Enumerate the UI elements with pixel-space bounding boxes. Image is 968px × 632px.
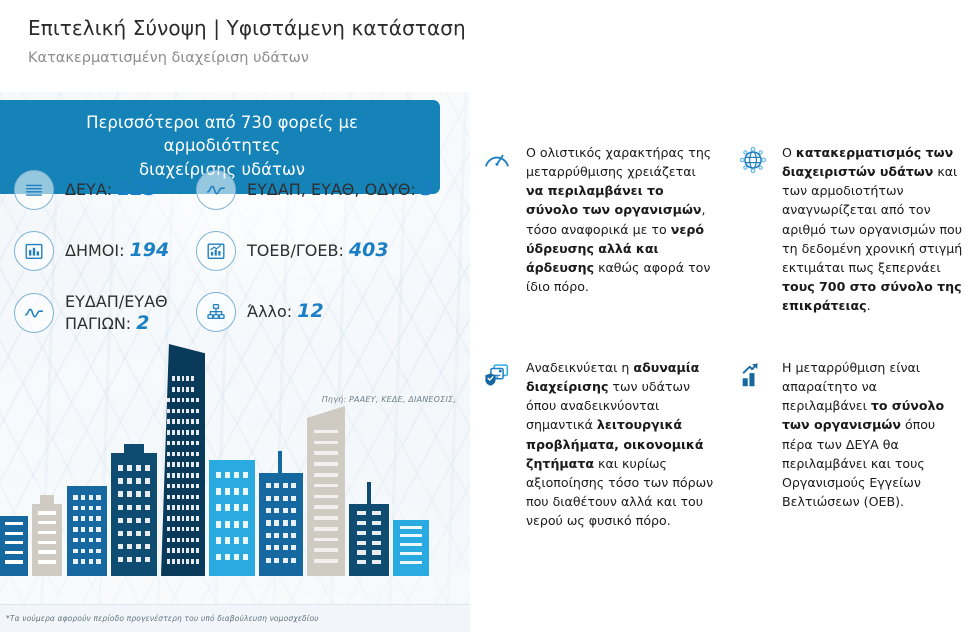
building-window [177,495,180,500]
building-window [191,516,194,521]
insight-block-fragmentation: Ο κατακερματισμός των διαχειριστών υδάτω… [738,143,964,315]
building-window [182,559,185,564]
building-window [81,495,85,500]
building-window [283,496,288,501]
globe-network-icon [738,143,772,179]
insight-text: Αναδεικνύεται η αδυναμία διαχείρισης των… [526,358,714,530]
building-window [283,558,288,563]
building-window [400,526,422,529]
building-window [372,560,381,564]
stat-value: 12 [297,300,323,322]
building-window [225,504,230,511]
building-window [274,483,279,488]
building-window [172,409,175,414]
building-window [89,559,93,564]
building-rooftop [40,495,53,504]
building-window [191,398,194,403]
building-window [127,557,132,562]
building-window [234,554,239,561]
building-window [191,376,194,381]
building-window [196,484,199,489]
building-window [182,409,185,414]
building-window [177,538,180,543]
building-window [182,430,185,435]
building-window [172,387,175,392]
hierarchy-icon [196,292,236,332]
building-window [283,533,288,538]
page-title: Επιτελική Σύνοψη | Υφιστάμενη κατάσταση [28,16,668,41]
building-window [314,462,338,466]
building-window [172,559,175,564]
building-window [186,516,189,521]
building-window [127,505,132,510]
building-window [191,419,194,424]
building-window [266,520,271,525]
insight-block-reform-scope: Η μεταρρύθμιση είναι απαραίτητο να περιλ… [738,358,964,511]
building-window [145,518,150,523]
building-window [5,541,22,544]
building-window [186,559,189,564]
building-window [73,516,77,521]
building-window [266,558,271,563]
chart-arrow-icon [196,231,236,271]
building-window [291,533,296,538]
building-window [191,538,194,543]
building-window [182,484,185,489]
building-window [186,387,189,392]
building-window [186,441,189,446]
building-window [266,496,271,501]
building-window [81,516,85,521]
building-window [357,560,366,564]
building-window [81,538,85,543]
building-window [186,505,189,510]
building-window [314,430,338,434]
stat-value: 194 [130,239,170,261]
building-window [196,495,199,500]
stat-item-dimoi: ΔΗΜΟΙ: 194 [0,231,188,271]
building-window [314,473,338,477]
building-window [196,516,199,521]
building-window [136,544,141,549]
building-window [274,533,279,538]
building-window [191,527,194,532]
building-window [118,518,123,523]
building-window [191,441,194,446]
growth-chart-icon [738,358,772,394]
building-window [172,419,175,424]
building-window [136,518,141,523]
building-window [182,419,185,424]
building-window [234,504,239,511]
building-window [127,465,132,470]
building-window [167,495,170,500]
building-window [191,559,194,564]
building-window [186,548,189,553]
building-window [196,505,199,510]
building-window [89,516,93,521]
shield-documents-icon [482,358,516,394]
building-window [177,409,180,414]
building-window [186,473,189,478]
building-window [216,488,221,495]
building-window [38,541,57,544]
skyline-building [349,504,389,576]
building-window [177,473,180,478]
building-window [145,491,150,496]
building-window [283,520,288,525]
building-window [89,538,93,543]
building-window [191,495,194,500]
building-window [191,387,194,392]
skyline-building [307,406,345,576]
building-window [81,506,85,511]
stat-item-toev-goev: ΤΟΕΒ/ΓΟΕΒ: 403 [188,231,389,271]
building-window [167,419,170,424]
building-window [177,430,180,435]
building-window [38,511,57,514]
building-window [73,527,77,532]
building-window [314,484,338,488]
building-window [186,376,189,381]
building-window [172,516,175,521]
skyline-building [32,504,62,576]
building-window [243,537,248,544]
building-window [196,430,199,435]
building-window [191,409,194,414]
building-window [81,549,85,554]
building-window [73,506,77,511]
building-window [177,505,180,510]
stat-item-eydap-eyath-pagion: ΕΥΔΑΠ/ΕΥΑΘ ΠΑΓΙΩΝ: 2 [0,292,188,335]
building-window [136,465,141,470]
building-window [167,548,170,553]
building-window [118,478,123,483]
building-window [357,550,366,554]
water-lines-icon [14,170,54,210]
building-window [196,559,199,564]
building-window [136,478,141,483]
building-window [89,527,93,532]
building-window [216,504,221,511]
building-window [145,465,150,470]
building-window [182,398,185,403]
building-window [274,508,279,513]
building-window [182,462,185,467]
stat-value: 3 [421,178,434,200]
building-window [186,409,189,414]
building-window [314,441,338,445]
building-window [196,441,199,446]
building-window [314,548,338,552]
building-window [243,472,248,479]
building-antenna [278,451,282,473]
insight-text: Ο κατακερματισμός των διαχειριστών υδάτω… [782,143,964,315]
building-window [225,472,230,479]
building-window [167,516,170,521]
building-window [167,409,170,414]
building-window [191,430,194,435]
building-window [196,538,199,543]
building-window [196,548,199,553]
building-window [89,549,93,554]
building-window [167,484,170,489]
building-window [186,538,189,543]
building-window [372,541,381,545]
building-window [177,376,180,381]
building-window [145,505,150,510]
building-window [172,527,175,532]
stat-label: ΤΟΕΒ/ΓΟΕΒ: [247,241,349,260]
skyline-building [259,473,303,576]
building-window [172,398,175,403]
building-window [186,398,189,403]
building-window [291,496,296,501]
building-window [172,484,175,489]
building-window [400,534,422,537]
building-window [186,430,189,435]
building-window [145,544,150,549]
building-window [314,516,338,520]
building-window [136,531,141,536]
building-window [266,533,271,538]
building-window [167,538,170,543]
building-window [118,531,123,536]
building-window [314,495,338,499]
building-window [182,376,185,381]
building-window [172,538,175,543]
building-window [182,527,185,532]
building-window [5,560,22,563]
building-window [136,557,141,562]
building-window [73,538,77,543]
building-window [400,552,422,555]
building-window [225,554,230,561]
building-window [118,557,123,562]
building-window [291,520,296,525]
building-window [96,495,100,500]
building-window [372,550,381,554]
building-window [172,548,175,553]
skyline-building [0,516,28,576]
building-window [191,462,194,467]
building-window [5,532,22,535]
building-window [196,527,199,532]
building-window [196,398,199,403]
building-window [96,506,100,511]
building-window [167,462,170,467]
building-rooftop [124,444,144,453]
building-window [196,452,199,457]
building-window [186,419,189,424]
building-window [234,488,239,495]
building-window [182,516,185,521]
building-window [136,505,141,510]
building-window [186,484,189,489]
building-window [216,554,221,561]
skyline-building [161,344,205,576]
building-window [274,496,279,501]
building-window [186,452,189,457]
skyline-building [209,460,255,576]
building-window [283,545,288,550]
building-window [186,495,189,500]
page-subtitle: Κατακερματισμένη διαχείριση υδάτων [28,49,668,68]
building-window [182,387,185,392]
insight-text: Η μεταρρύθμιση είναι απαραίτητο να περιλ… [782,358,964,511]
building-window [216,472,221,479]
building-window [357,541,366,545]
building-window [266,483,271,488]
pulse-wave-icon [196,170,236,210]
building-window [274,520,279,525]
building-window [225,537,230,544]
building-window [234,537,239,544]
building-window [73,495,77,500]
building-window [182,473,185,478]
building-window [167,430,170,435]
building-window [127,478,132,483]
building-window [81,527,85,532]
building-window [96,559,100,564]
building-window [38,521,57,524]
building-window [172,430,175,435]
building-window [372,511,381,515]
building-window [372,531,381,535]
building-window [234,521,239,528]
building-window [96,516,100,521]
building-window [314,559,338,563]
building-window [172,452,175,457]
building-window [314,451,338,455]
building-window [314,538,338,542]
insight-block-management-weakness: Αναδεικνύεται η αδυναμία διαχείρισης των… [482,358,714,530]
building-window [167,559,170,564]
building-window [172,462,175,467]
stat-item-deya: ΔΕΥΑ: 125* [0,170,188,210]
building-window [291,508,296,513]
building-window [182,441,185,446]
building-window [73,549,77,554]
building-window [118,465,123,470]
building-window [243,521,248,528]
building-window [372,521,381,525]
building-window [96,527,100,532]
building-window [196,473,199,478]
building-window [5,551,22,554]
building-window [400,561,422,564]
building-window [216,537,221,544]
building-window [172,441,175,446]
stat-value: 2 [136,312,149,334]
stats-row: ΔΕΥΑ: 125* ΕΥΔΑΠ, ΕΥΑΘ, ΟΔΥΘ: 3 [0,170,440,210]
building-window [314,505,338,509]
building-window [177,548,180,553]
building-window [172,376,175,381]
building-window [118,491,123,496]
building-window [96,549,100,554]
stat-value: 125* [117,178,167,200]
building-window [191,505,194,510]
footnote-text: *Τα νούμερα αφορούν περίοδο προγενέστερη… [0,614,319,623]
building-window [177,452,180,457]
building-window [191,452,194,457]
building-window [136,491,141,496]
building-window [196,409,199,414]
building-window [400,543,422,546]
stat-label: Άλλο: [247,302,297,321]
building-window [177,559,180,564]
building-window [145,478,150,483]
building-window [73,559,77,564]
skyline-building [67,486,107,576]
building-window [243,554,248,561]
building-window [186,527,189,532]
building-window [182,538,185,543]
building-window [5,522,22,525]
building-window [177,419,180,424]
building-window [225,488,230,495]
building-window [177,387,180,392]
building-window [234,472,239,479]
building-window [38,550,57,553]
building-window [291,558,296,563]
building-window [243,488,248,495]
building-window [291,483,296,488]
building-window [266,508,271,513]
building-window [172,505,175,510]
building-window [145,557,150,562]
building-window [177,462,180,467]
infographic-page: Επιτελική Σύνοψη | Υφιστάμενη κατάσταση … [0,0,968,632]
building-window [172,495,175,500]
banner-line-1: Περισσότεροι από 730 φορείς με αρμοδιότη… [86,113,358,155]
footnote-bar: *Τα νούμερα αφορούν περίοδο προγενέστερη… [0,604,470,632]
stats-row: ΕΥΔΑΠ/ΕΥΑΘ ΠΑΓΙΩΝ: 2 [0,292,440,335]
insight-text: Ο ολιστικός χαρακτήρας της μεταρρύθμισης… [526,143,714,296]
building-window [291,545,296,550]
insight-block-holistic-reform: Ο ολιστικός χαρακτήρας της μεταρρύθμισης… [482,143,714,296]
building-window [177,398,180,403]
building-window [167,473,170,478]
building-window [167,505,170,510]
building-window [118,544,123,549]
stat-label: ΔΕΥΑ: [65,180,117,199]
building-window [274,545,279,550]
building-window [216,521,221,528]
building-window [81,559,85,564]
page-header: Επιτελική Σύνοψη | Υφιστάμενη κατάσταση … [28,16,668,68]
building-window [182,505,185,510]
building-window [167,527,170,532]
building-window [177,527,180,532]
left-stats-panel: Περισσότεροι από 730 φορείς με αρμοδιότη… [0,92,470,632]
building-window [38,531,57,534]
building-window [357,521,366,525]
bar-chart-icon [14,231,54,271]
building-window [177,484,180,489]
building-window [167,398,170,403]
building-window [177,441,180,446]
stats-row: ΔΗΜΟΙ: 194 ΤΟ [0,231,440,271]
building-window [196,419,199,424]
building-window [182,452,185,457]
building-window [225,521,230,528]
city-skyline-illustration [0,344,470,604]
building-window [172,473,175,478]
building-window [182,495,185,500]
building-antenna [367,482,371,504]
